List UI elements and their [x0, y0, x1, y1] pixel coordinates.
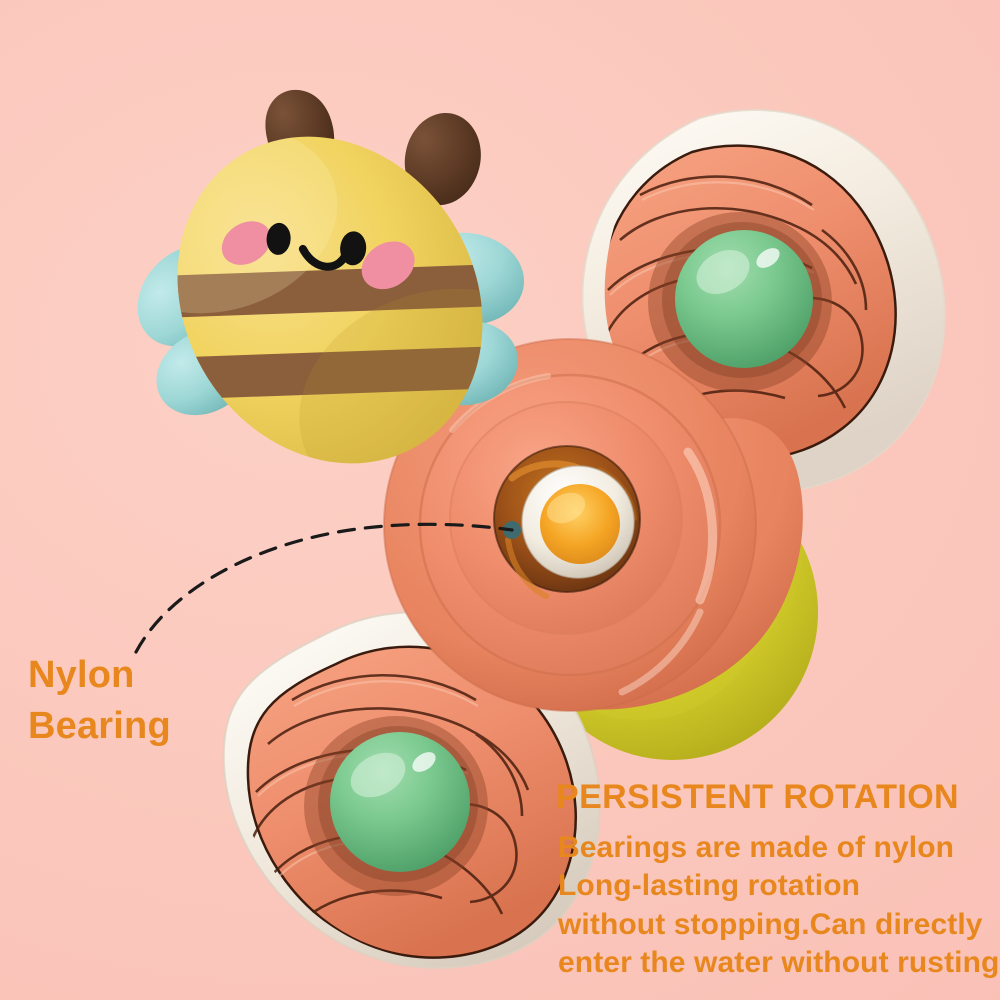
- feature-line-2: Long-lasting rotation: [558, 867, 1000, 905]
- nylon-callout-line-1: Nylon: [28, 650, 258, 701]
- feature-line-1: Bearings are made of nylon: [558, 829, 1000, 867]
- green-ball-bottom-left: [330, 732, 470, 872]
- green-ball-top-right: [675, 230, 813, 368]
- feature-headline: PERSISTENT ROTATION: [556, 778, 959, 817]
- nylon-callout-line-2: Bearing: [28, 701, 258, 752]
- nylon-bearing-callout: Nylon Bearing: [28, 650, 258, 751]
- feature-line-4: enter the water without rusting: [558, 944, 1000, 982]
- feature-line-3: without stopping.Can directly: [558, 906, 1000, 944]
- product-photo: Nylon Bearing PERSISTENT ROTATION Bearin…: [0, 0, 1000, 1000]
- feature-description: Bearings are made of nylon Long-lasting …: [558, 829, 1000, 983]
